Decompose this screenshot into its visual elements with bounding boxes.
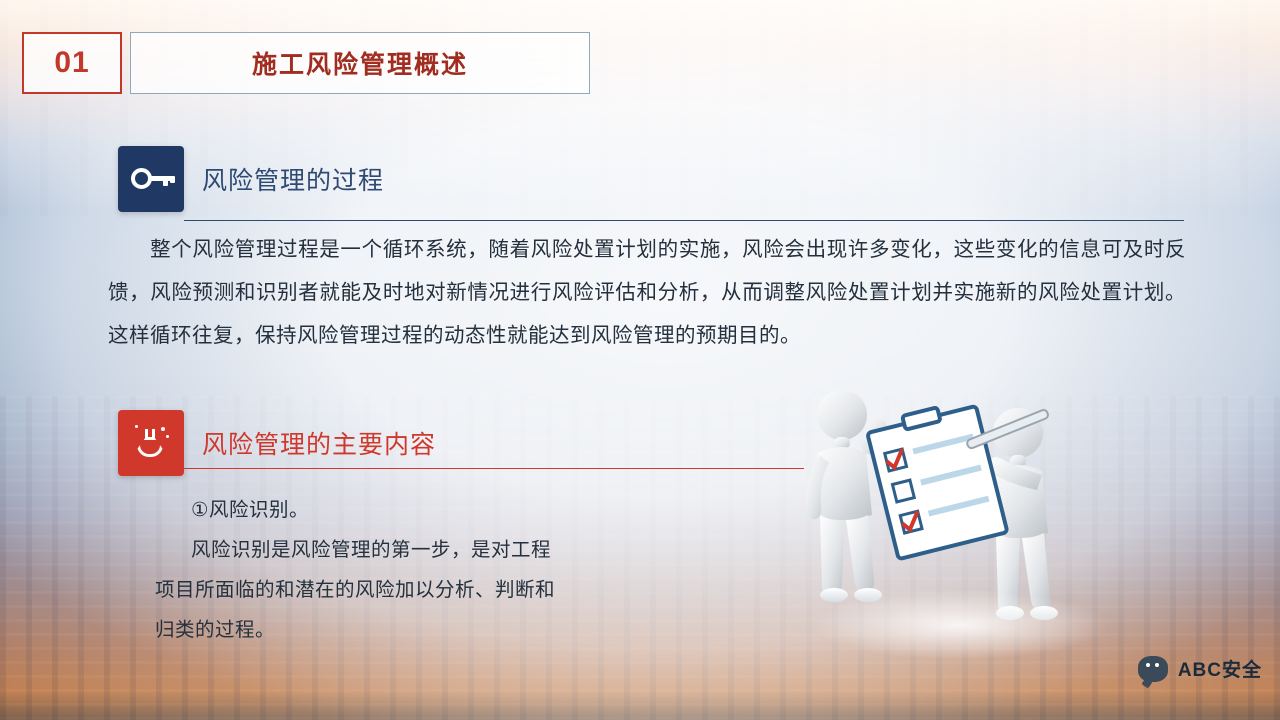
- illustration-ground-shadow: [810, 590, 1110, 660]
- flask-icon: [118, 410, 184, 476]
- paragraph-process-text: 整个风险管理过程是一个循环系统，随着风险处置计划的实施，风险会出现许多变化，这些…: [108, 238, 1186, 347]
- slide-header: 01 施工风险管理概述: [22, 32, 590, 94]
- list-item: 项目所面临的和潜在的风险加以分析、判断和: [155, 570, 675, 610]
- section-heading-content: 风险管理的主要内容: [118, 410, 436, 476]
- list-item: 归类的过程。: [155, 610, 675, 650]
- list-item: ①风险识别。: [155, 490, 675, 530]
- page-title: 施工风险管理概述: [130, 32, 590, 94]
- section-label-content: 风险管理的主要内容: [202, 425, 436, 461]
- footer-label: ABC安全: [1178, 655, 1262, 682]
- figure-left-person: [806, 390, 887, 602]
- figure-clipboard: [865, 398, 1007, 559]
- wechat-icon: [1138, 656, 1168, 682]
- list-content: ①风险识别。 风险识别是风险管理的第一步，是对工程 项目所面临的和潜在的风险加以…: [155, 490, 675, 650]
- key-icon: [118, 146, 184, 212]
- illustration-3d-people: [790, 375, 1120, 675]
- list-item: 风险识别是风险管理的第一步，是对工程: [155, 530, 675, 570]
- divider-red: [184, 468, 804, 469]
- section-number: 01: [22, 32, 122, 94]
- flask-icon-glyph: [131, 423, 171, 463]
- key-icon-glyph: [131, 169, 171, 189]
- divider-navy: [184, 220, 1184, 221]
- section-label-process: 风险管理的过程: [202, 161, 384, 197]
- section-heading-process: 风险管理的过程: [118, 146, 384, 212]
- footer-brand: ABC安全: [1138, 655, 1262, 682]
- slide-root: 01 施工风险管理概述 风险管理的过程 整个风险管理过程是一个循环系统，随着风险…: [0, 0, 1280, 720]
- paragraph-process: 整个风险管理过程是一个循环系统，随着风险处置计划的实施，风险会出现许多变化，这些…: [108, 228, 1186, 357]
